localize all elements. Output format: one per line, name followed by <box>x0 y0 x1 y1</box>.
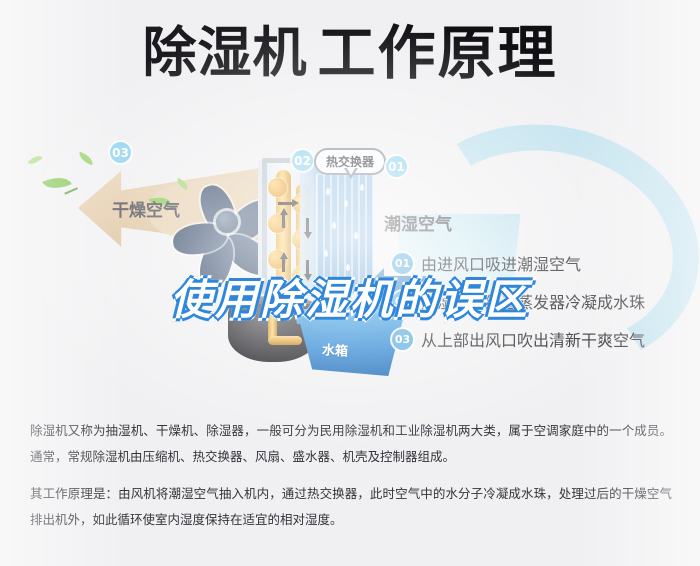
page-header: 除湿机工作原理 <box>0 24 700 82</box>
compressor-pipe <box>268 336 302 345</box>
body-text: 除湿机又称为抽湿机、干燥机、除湿器，一般可分为民用除湿机和工业除湿机两大类，属于… <box>30 418 672 545</box>
bubble-pointer-inner <box>346 167 356 175</box>
badge-humid-air: 01 <box>386 156 407 177</box>
leaf-icon <box>27 152 42 168</box>
flow-arrow-up <box>280 208 288 215</box>
badge-heat-exchanger: 02 <box>292 150 313 171</box>
flow-arrow-bar <box>306 218 309 232</box>
overlay-title: 使用除湿机的误区 <box>0 266 700 327</box>
infographic-page: 除湿机工作原理 <box>0 0 700 566</box>
flow-arrow-bar <box>278 202 292 205</box>
step-text: 从上部出风口吹出清新干爽空气 <box>421 327 645 351</box>
label-dry-air: 干燥空气 <box>112 196 180 221</box>
flow-arrow-bar <box>282 214 285 228</box>
step-number: 03 <box>392 329 413 350</box>
header-title-part2: 工作原理 <box>317 24 557 82</box>
leaf-icon <box>77 152 95 166</box>
flow-arrow-down <box>304 232 312 239</box>
flow-arrow-right <box>292 199 299 207</box>
overlay-title-text: 使用除湿机的误区 <box>170 266 530 327</box>
paragraph-2: 其工作原理是：由风机将潮湿空气抽入机内，通过热交换器，此时空气中的水分子冷凝成水… <box>30 481 672 532</box>
coil-loop <box>268 178 287 197</box>
water-tank-label: 水箱 <box>322 339 349 359</box>
label-humid-air: 潮湿空气 <box>384 210 452 235</box>
paragraph-1: 除湿机又称为抽湿机、干燥机、除湿器，一般可分为民用除湿机和工业除湿机两大类，属于… <box>30 418 672 469</box>
flow-arrow-up <box>280 252 288 259</box>
header-title-part1: 除湿机 <box>142 26 307 80</box>
badge-dry-air: 03 <box>110 142 131 163</box>
leaf-stem <box>64 187 77 194</box>
